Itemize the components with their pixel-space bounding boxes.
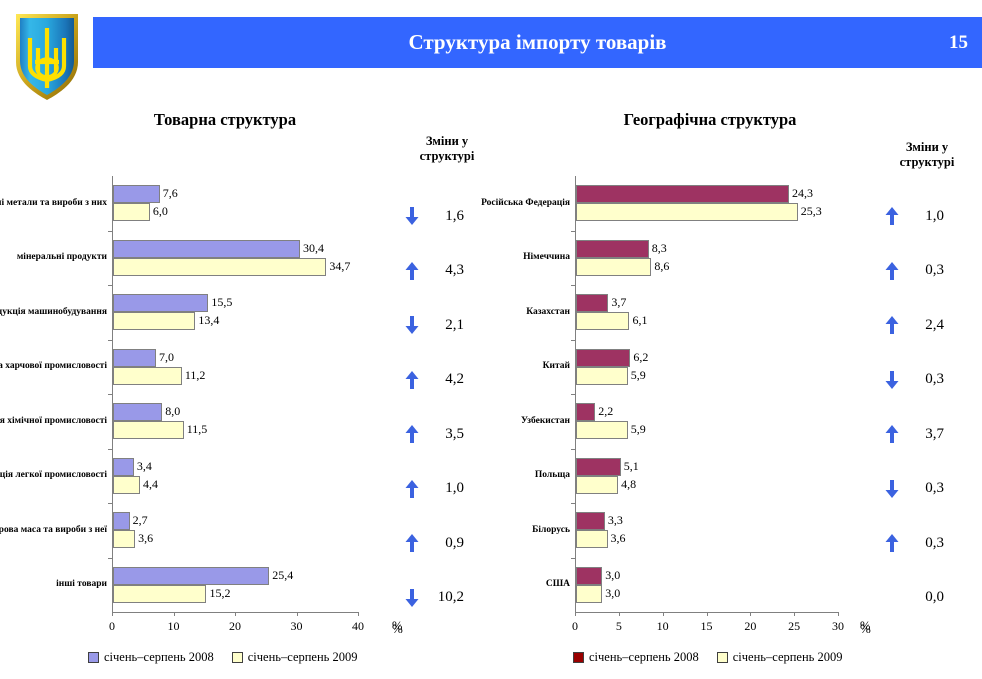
left_chart-change-value: 10,2: [430, 589, 464, 606]
left_chart-category-label: недорогоцінні метали та вироби з них: [2, 185, 107, 221]
right_chart-bar: [576, 585, 602, 603]
right_chart-change-value: 3,7: [910, 426, 944, 443]
right_chart-change-value: 2,4: [910, 317, 944, 334]
left_chart-value-label: 34,7: [329, 259, 350, 274]
right_chart-x-tick: [575, 612, 576, 616]
left_chart-bar: [113, 476, 140, 494]
right_chart-change-row: 1,0: [884, 207, 944, 225]
right_chart-change-value: 0,0: [910, 589, 944, 606]
page-title: Структура імпорту товарів: [93, 17, 982, 68]
right_chart-value-label: 6,1: [632, 313, 647, 328]
right_chart-legend-label: січень–серпень 2009: [733, 650, 843, 665]
left_chart-x-tick: [297, 612, 298, 616]
left_chart-category-label: деревина, паперова маса та вироби з неї: [2, 512, 107, 548]
left_chart-change-value: 4,3: [430, 262, 464, 279]
right_chart-legend-swatch: [573, 652, 584, 663]
left_chart-value-label: 3,6: [138, 531, 153, 546]
left_chart-value-label: 15,5: [211, 295, 232, 310]
left_chart-change-row: 2,1: [404, 316, 464, 334]
left_chart-legend-label: січень–серпень 2009: [248, 650, 358, 665]
left_chart-category-label: продукція АПК та харчової промисловості: [2, 349, 107, 385]
right_chart-bar: [576, 312, 629, 330]
arrow-up-icon: [404, 533, 420, 553]
right_chart-x-tick: [838, 612, 839, 616]
arrow-up-icon: [404, 479, 420, 499]
right_chart-value-label: 2,2: [598, 404, 613, 419]
right_chart-bar: [576, 203, 798, 221]
left_chart-x-tick: [235, 612, 236, 616]
left_chart-legend-swatch: [232, 652, 243, 663]
left_chart-change-row: 0,9: [404, 534, 464, 552]
left_chart-bar: [113, 403, 162, 421]
left_chart-change-value: 0,9: [430, 535, 464, 552]
left_chart-x-tick: [358, 612, 359, 616]
right_chart-y-tick: [571, 285, 575, 286]
left_chart-value-label: 11,5: [187, 422, 208, 437]
slide-title-bar: Структура імпорту товарів 15: [93, 17, 982, 68]
right_chart-bar: [576, 349, 630, 367]
left_chart-bar: [113, 312, 195, 330]
left_chart-bar: [113, 258, 326, 276]
left_chart-value-label: 15,2: [209, 586, 230, 601]
left_chart-bar: [113, 585, 206, 603]
left_chart-value-label: 8,0: [165, 404, 180, 419]
arrow-up-icon: [884, 206, 900, 226]
left_chart-value-label: 4,4: [143, 477, 158, 492]
right_chart-change-header-line1: Зміни у: [884, 140, 970, 155]
arrow-down-icon: [404, 588, 420, 608]
left_chart-bar: [113, 240, 300, 258]
left_chart-value-label: 30,4: [303, 241, 324, 256]
left_chart-value-label: 6,0: [153, 204, 168, 219]
right_chart-change-row: 3,7: [884, 425, 944, 443]
left_chart-value-label: 2,7: [133, 513, 148, 528]
left_chart-bar: [113, 512, 130, 530]
right_chart-y-tick: [571, 503, 575, 504]
right_chart-legend-item[interactable]: січень–серпень 2009: [717, 650, 843, 665]
right_chart-x-tick: [794, 612, 795, 616]
right_chart-bar: [576, 294, 608, 312]
left_chart-legend: січень–серпень 2008січень–серпень 2009: [88, 650, 358, 665]
right_chart-value-label: 3,6: [611, 531, 626, 546]
left_chart-category-label: продукція машинобудування: [2, 294, 107, 330]
right_chart-x-tick: [663, 612, 664, 616]
arrow-down-icon: [884, 479, 900, 499]
right_chart-change-row: 0,3: [884, 480, 944, 498]
arrow-up-icon: [884, 315, 900, 335]
arrow-up-icon: [884, 533, 900, 553]
left_chart-x-tick-label: 20: [220, 619, 250, 634]
left_chart-y-tick: [108, 231, 112, 232]
right_chart-legend-item[interactable]: січень–серпень 2008: [573, 650, 699, 665]
left_chart-category-label: продукція хімічної промисловості: [2, 403, 107, 439]
right_chart-category-label: Китай: [484, 349, 570, 385]
left_chart-bar: [113, 530, 135, 548]
right_chart-y-tick: [571, 449, 575, 450]
right_chart-y-tick: [571, 231, 575, 232]
left_chart-bar: [113, 185, 160, 203]
right_chart-value-label: 25,3: [801, 204, 822, 219]
left_chart-bar: [113, 367, 182, 385]
left_chart-value-label: 25,4: [272, 568, 293, 583]
right_chart-y-tick: [571, 394, 575, 395]
right_chart-change-row: 0,3: [884, 371, 944, 389]
right_chart-value-label: 3,3: [608, 513, 623, 528]
left_chart-y-tick: [108, 285, 112, 286]
left_chart-y-tick: [108, 449, 112, 450]
left_chart-y-tick: [108, 394, 112, 395]
right_chart-change-row: 2,4: [884, 316, 944, 334]
left_chart-change-value: 1,6: [430, 208, 464, 225]
left_chart-change-row: 4,2: [404, 371, 464, 389]
right_chart-category-label: Казахстан: [484, 294, 570, 330]
right_chart-bar: [576, 458, 621, 476]
right_chart-bar: [576, 476, 618, 494]
arrow-up-icon: [884, 424, 900, 444]
right_chart-category-label: США: [484, 567, 570, 603]
right_chart-x-tick-label: 30: [823, 619, 853, 634]
right_chart-bar: [576, 367, 628, 385]
right_chart-change-header-line2: структурі: [884, 155, 970, 170]
left_chart-bar: [113, 458, 134, 476]
arrow-down-icon: [884, 370, 900, 390]
left_chart-change-row: 3,5: [404, 425, 464, 443]
left_chart-x-tick: [112, 612, 113, 616]
arrow-up-icon: [404, 424, 420, 444]
left_chart-legend-item[interactable]: січень–серпень 2009: [232, 650, 358, 665]
left_chart-y-tick: [108, 558, 112, 559]
right_chart-value-label: 5,9: [631, 368, 646, 383]
right_chart-legend-label: січень–серпень 2008: [589, 650, 699, 665]
right_chart-value-label: 5,1: [624, 459, 639, 474]
right_chart-x-tick-label: 25: [779, 619, 809, 634]
right_chart-bar: [576, 403, 595, 421]
right_chart-bar: [576, 185, 789, 203]
right_chart-y-tick: [571, 340, 575, 341]
right_chart-change-unit: %: [860, 621, 871, 637]
right_chart-value-label: 3,0: [605, 586, 620, 601]
right_chart-category-label: Німеччина: [484, 240, 570, 276]
right_chart-change-header: Зміни уструктурі: [884, 140, 970, 170]
left_chart-legend-label: січень–серпень 2008: [104, 650, 214, 665]
left_chart-value-label: 3,4: [137, 459, 152, 474]
right_chart-value-label: 5,9: [631, 422, 646, 437]
left_chart-bar: [113, 349, 156, 367]
left_chart-y-tick: [108, 340, 112, 341]
right_chart-category-label: Російська Федерація: [484, 185, 570, 221]
left_chart-change-row: 1,6: [404, 207, 464, 225]
arrow-up-icon: [404, 370, 420, 390]
left_chart-title: Товарна структура: [35, 110, 415, 130]
right_chart-x-tick-label: 5: [604, 619, 634, 634]
left_chart-legend-item[interactable]: січень–серпень 2008: [88, 650, 214, 665]
left_chart-value-label: 11,2: [185, 368, 206, 383]
page-number: 15: [949, 17, 968, 68]
right_chart-change-value: 0,3: [910, 262, 944, 279]
right_chart-legend: січень–серпень 2008січень–серпень 2009: [573, 650, 843, 665]
right_chart-bar: [576, 421, 628, 439]
right_chart-x-tick-label: 20: [735, 619, 765, 634]
right_chart-bar: [576, 258, 651, 276]
arrow-up-icon: [404, 261, 420, 281]
right_chart-category-label: Білорусь: [484, 512, 570, 548]
arrow-down-icon: [404, 206, 420, 226]
right_chart-x-tick: [707, 612, 708, 616]
left_chart-change-header-line2: структурі: [404, 149, 490, 164]
left_chart-change-value: 4,2: [430, 371, 464, 388]
right_chart-legend-swatch: [717, 652, 728, 663]
ukraine-coat-of-arms-icon: [8, 4, 86, 104]
right_chart-x-tick-label: 0: [560, 619, 590, 634]
left_chart-x-tick-label: 10: [159, 619, 189, 634]
left_chart-category-label: інші товари: [2, 567, 107, 603]
right_chart-change-value: 0,3: [910, 535, 944, 552]
left_chart-value-label: 13,4: [198, 313, 219, 328]
right_chart-value-label: 3,7: [611, 295, 626, 310]
arrow-up-icon: [884, 261, 900, 281]
left_chart-change-row: 1,0: [404, 480, 464, 498]
left_chart-change-unit: %: [392, 621, 403, 637]
left_chart-y-tick: [108, 503, 112, 504]
right_chart-value-label: 8,3: [652, 241, 667, 256]
right_chart-category-label: Польща: [484, 458, 570, 494]
right_chart-change-row: 0,3: [884, 534, 944, 552]
right_chart-change-value: 0,3: [910, 371, 944, 388]
left_chart-change-row: 10,2: [404, 589, 464, 607]
right_chart-plot-area: [575, 176, 838, 612]
right_chart-x-tick: [619, 612, 620, 616]
right_chart-x-tick-label: 10: [648, 619, 678, 634]
right_chart-bar: [576, 530, 608, 548]
no-change-icon: [884, 588, 900, 608]
left_chart-change-value: 2,1: [430, 317, 464, 334]
left_chart-category-label: продукція легкої промисловості: [2, 458, 107, 494]
left_chart-x-tick-label: 30: [282, 619, 312, 634]
left_chart-bar: [113, 567, 269, 585]
left_chart-change-row: 4,3: [404, 262, 464, 280]
right_chart-value-label: 3,0: [605, 568, 620, 583]
right_chart-bar: [576, 240, 649, 258]
right_chart-value-label: 4,8: [621, 477, 636, 492]
left_chart-bar: [113, 421, 184, 439]
left_chart-change-value: 1,0: [430, 480, 464, 497]
left_chart-change-header: Зміни уструктурі: [404, 134, 490, 164]
left_chart-bar: [113, 294, 208, 312]
right_chart-value-label: 24,3: [792, 186, 813, 201]
left_chart-change-header-line1: Зміни у: [404, 134, 490, 149]
arrow-down-icon: [404, 315, 420, 335]
right_chart-change-row: 0,3: [884, 262, 944, 280]
left_chart-value-label: 7,0: [159, 350, 174, 365]
right_chart-value-label: 6,2: [633, 350, 648, 365]
left_chart-x-tick-label: 0: [97, 619, 127, 634]
right_chart-change-row: 0,0: [884, 589, 944, 607]
right_chart-change-value: 1,0: [910, 208, 944, 225]
right_chart-x-tick-label: 15: [692, 619, 722, 634]
left_chart-x-tick: [174, 612, 175, 616]
right_chart-category-label: Узбекистан: [484, 403, 570, 439]
left_chart-value-label: 7,6: [163, 186, 178, 201]
right_chart-y-tick: [571, 558, 575, 559]
left_chart-legend-swatch: [88, 652, 99, 663]
right_chart-value-label: 8,6: [654, 259, 669, 274]
left_chart-category-label: мінеральні продукти: [2, 240, 107, 276]
right_chart-bar: [576, 567, 602, 585]
right_chart-bar: [576, 512, 605, 530]
left_chart-change-value: 3,5: [430, 426, 464, 443]
left_chart-x-tick-label: 40: [343, 619, 373, 634]
right_chart-change-value: 0,3: [910, 480, 944, 497]
right_chart-x-tick: [750, 612, 751, 616]
left_chart-bar: [113, 203, 150, 221]
right_chart-title: Географічна структура: [520, 110, 900, 130]
